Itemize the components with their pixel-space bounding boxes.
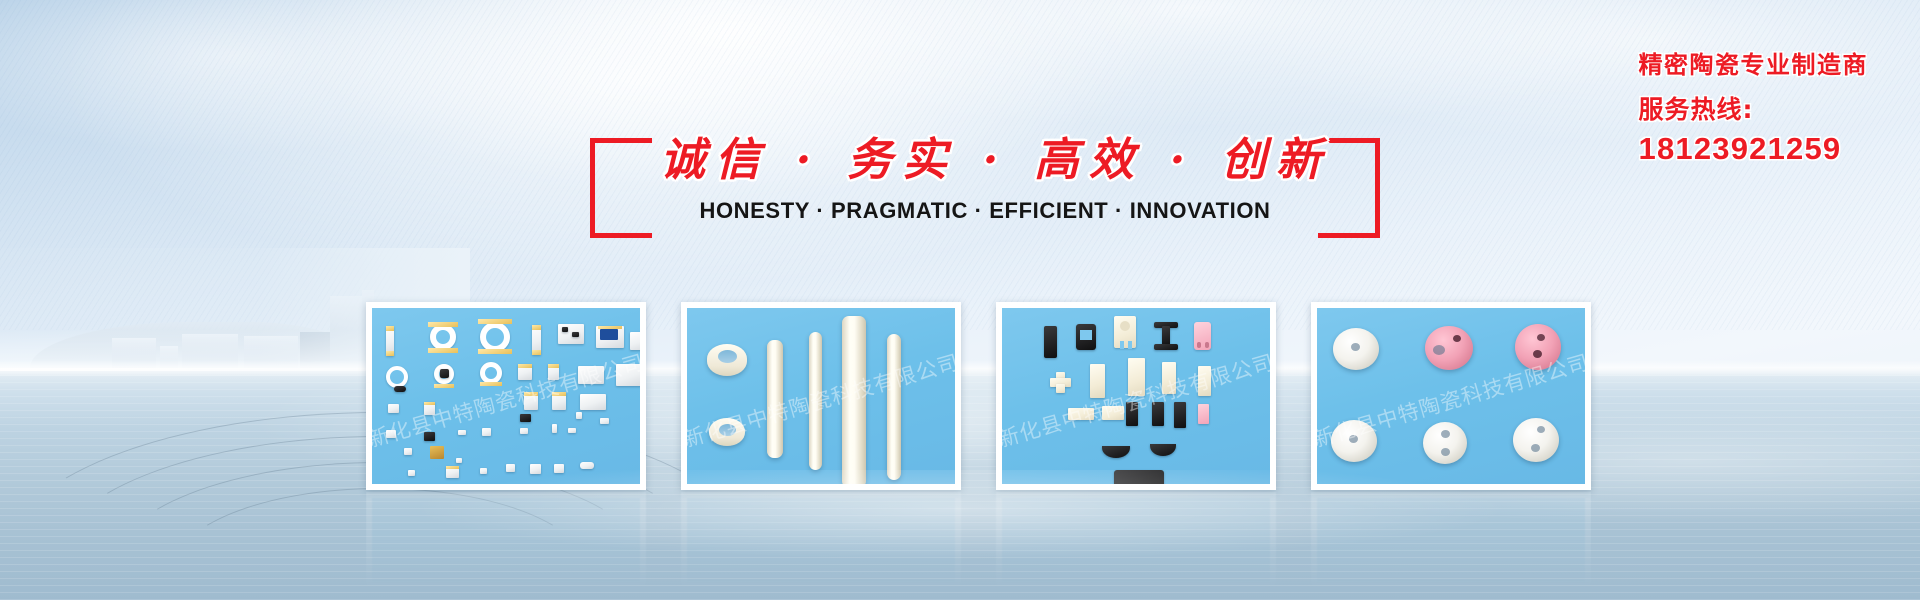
product-panel-smd-components[interactable]: 新化县中特陶瓷科技有限公司 [366, 302, 646, 490]
product-panel-structural-parts[interactable]: 新化县中特陶瓷科技有限公司 [996, 302, 1276, 490]
hotline-number[interactable]: 18123921259 [1639, 130, 1869, 168]
slogan-english: HONESTY · PRAGMATIC · EFFICIENT · INNOVA… [660, 198, 1310, 224]
product-panel-tubes[interactable]: 新化县中特陶瓷科技有限公司 [681, 302, 961, 490]
slogan-chinese: 诚信 · 务实 · 高效 · 创新 [660, 130, 1310, 190]
product-panel-discs[interactable]: 新化县中特陶瓷科技有限公司 [1311, 302, 1591, 490]
product-panel-group: 新化县中特陶瓷科技有限公司 [366, 302, 1591, 490]
hotline-label: 服务热线: [1639, 90, 1869, 130]
contact-block: 精密陶瓷专业制造商 服务热线: 18123921259 [1639, 48, 1869, 168]
slogan-block: 诚信 · 务实 · 高效 · 创新 HONESTY · PRAGMATIC · … [590, 130, 1380, 242]
banner-stage: 诚信 · 务实 · 高效 · 创新 HONESTY · PRAGMATIC · … [0, 0, 1920, 600]
bracket-left-icon [590, 138, 652, 238]
company-tagline: 精密陶瓷专业制造商 [1639, 48, 1869, 82]
